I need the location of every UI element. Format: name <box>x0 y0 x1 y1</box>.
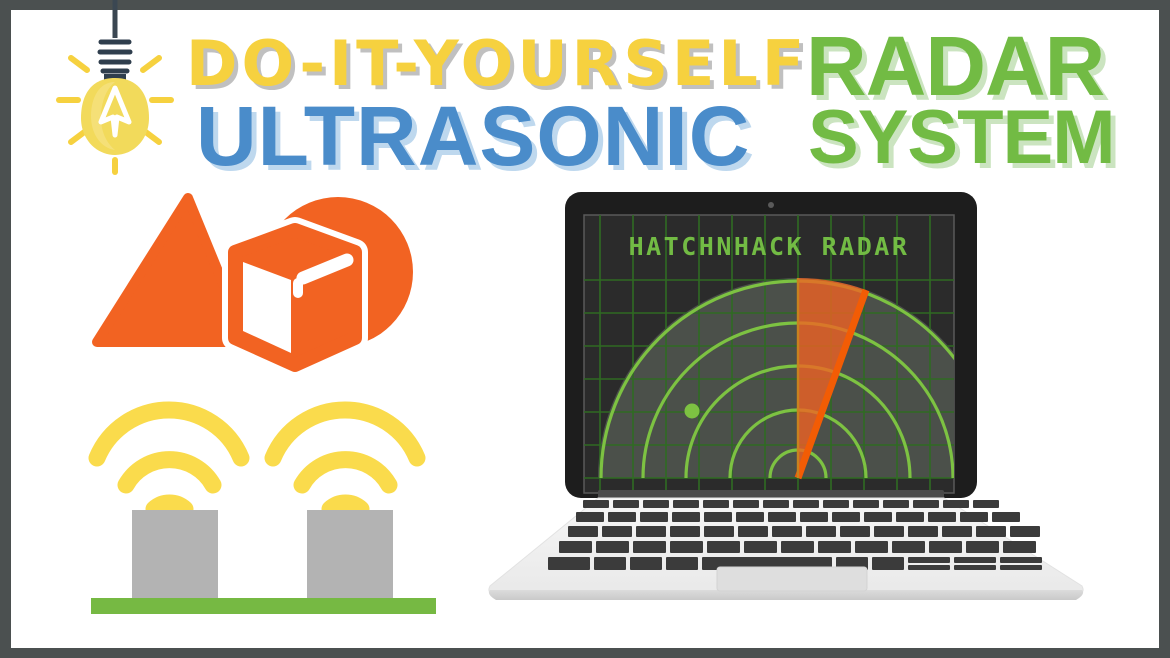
laptop-group: HATCHNHACK RADAR <box>480 190 1090 610</box>
poster-root: DO-IT-YOURSELF RADAR ULTRASONIC SYSTEM <box>0 0 1170 658</box>
trackpad-icon[interactable] <box>717 567 867 591</box>
sonar-waves-icon <box>97 410 241 509</box>
poster-stage: DO-IT-YOURSELF RADAR ULTRASONIC SYSTEM <box>0 0 1170 658</box>
webcam-icon <box>768 202 774 208</box>
title-system: SYSTEM <box>808 94 1115 181</box>
ultrasonic-sensor-group <box>85 395 445 625</box>
sonar-waves-icon <box>273 410 417 509</box>
cube-shape-icon <box>235 230 355 365</box>
radar-screen-title: HATCHNHACK RADAR <box>629 232 910 261</box>
ultrasonic-transducer-icon <box>132 510 218 605</box>
radar-blip <box>685 404 700 419</box>
shapes-group <box>95 190 435 405</box>
title-block: DO-IT-YOURSELF RADAR ULTRASONIC SYSTEM <box>0 0 1170 190</box>
ultrasonic-transducer-icon <box>307 510 393 605</box>
pcb-board-icon <box>91 598 436 614</box>
title-ultrasonic: ULTRASONIC <box>196 88 750 185</box>
